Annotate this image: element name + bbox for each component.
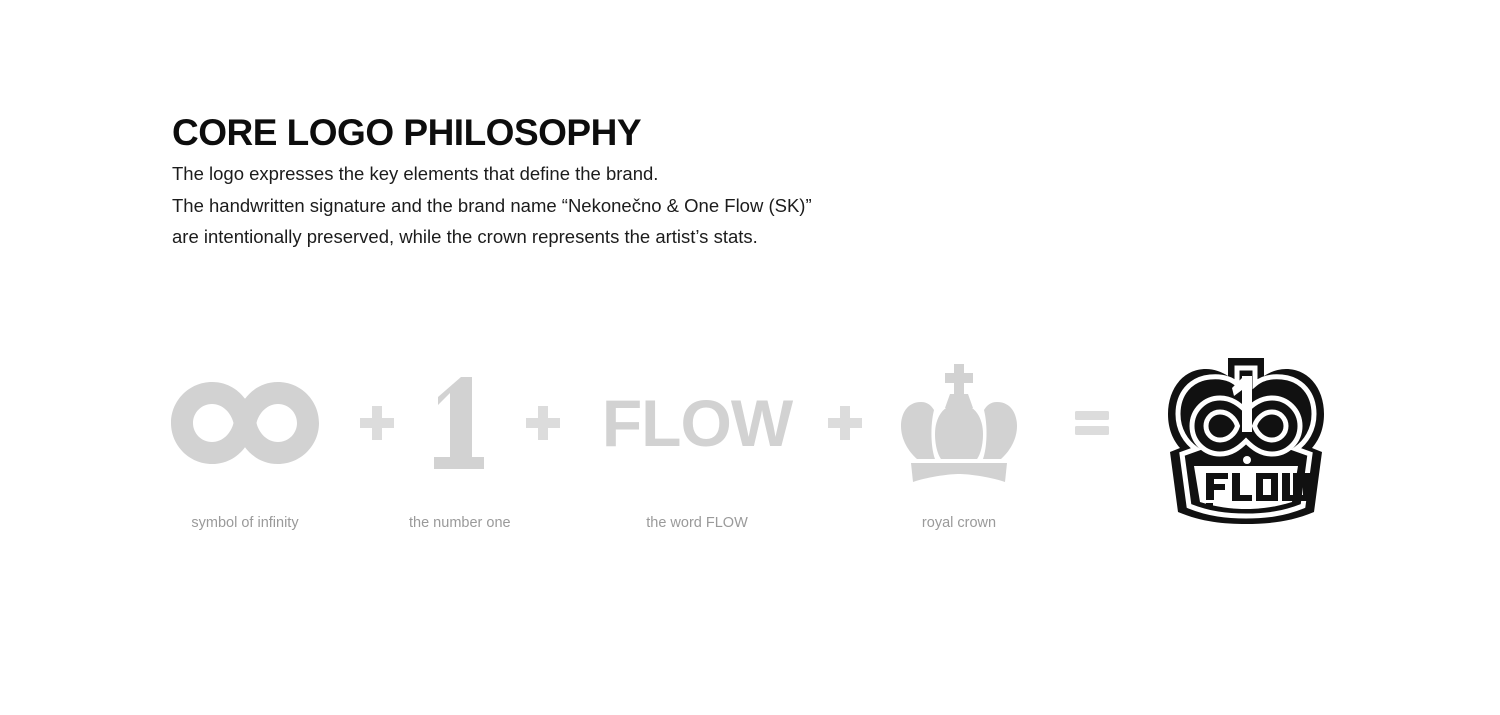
formula-result-logo — [1143, 350, 1349, 550]
operator-plus-3 — [813, 350, 877, 495]
formula-item-royal-crown: royal crown — [877, 350, 1041, 550]
intro-line-2: The handwritten signature and the brand … — [172, 190, 812, 222]
one-flow-logo-box — [1143, 350, 1349, 530]
plus-icon — [360, 406, 394, 440]
intro-paragraph: The logo expresses the key elements that… — [172, 158, 812, 253]
operator-plus-1 — [345, 350, 409, 495]
infinity-glyph-box — [145, 350, 345, 495]
infinity-symbol-icon — [171, 382, 319, 464]
plus-icon — [828, 406, 862, 440]
intro-line-1: The logo expresses the key elements that… — [172, 158, 812, 190]
page-title: CORE LOGO PHILOSOPHY — [172, 113, 641, 154]
operator-equals — [1059, 350, 1125, 495]
intro-line-3: are intentionally preserved, while the c… — [172, 221, 812, 253]
flow-wordmark-text: FLOW — [602, 390, 792, 456]
plus-icon — [526, 406, 560, 440]
flow-wordmark-box: FLOW — [577, 350, 817, 495]
formula-item-infinity: symbol of infinity — [145, 350, 345, 550]
operator-plus-2 — [511, 350, 575, 495]
number-one-glyph-box — [409, 350, 505, 495]
caption-infinity: symbol of infinity — [145, 515, 345, 531]
caption-number-one: the number one — [409, 515, 505, 531]
equals-icon — [1075, 411, 1109, 435]
caption-flow-word: the word FLOW — [577, 515, 817, 531]
one-flow-logo-badge-icon — [1164, 354, 1328, 526]
royal-crown-icon — [901, 364, 1017, 482]
formula-item-flow-word: FLOW the word FLOW — [577, 350, 817, 550]
number-one-icon — [430, 377, 484, 469]
logo-formula-row: symbol of infinity the number one FLOW t… — [0, 350, 1500, 550]
formula-item-number-one: the number one — [409, 350, 505, 550]
royal-crown-glyph-box — [877, 350, 1041, 495]
caption-royal-crown: royal crown — [877, 515, 1041, 531]
